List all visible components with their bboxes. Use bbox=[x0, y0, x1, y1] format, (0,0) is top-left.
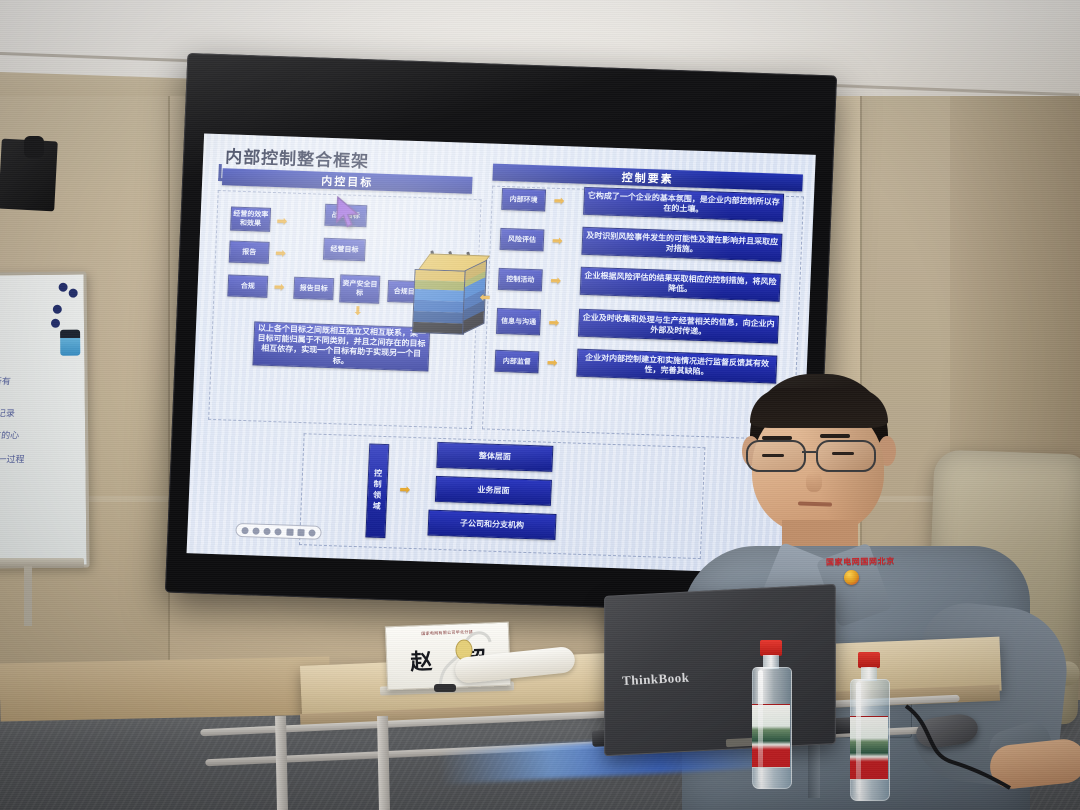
whiteboard-line: 力推 有的心 bbox=[0, 429, 20, 445]
bottle-highlight bbox=[856, 682, 861, 794]
whiteboard-line: 条件一过程 bbox=[0, 453, 25, 468]
party-badge-pin bbox=[844, 570, 859, 585]
meeting-room-photo: 科目 信 凭证 呼户所有 有属性 记录 力推 有的心 条件一过程 池 内部控制整… bbox=[0, 0, 1080, 810]
hair-fringe bbox=[750, 388, 888, 428]
eyebrow-right bbox=[820, 434, 850, 438]
whiteboard-tray bbox=[0, 558, 84, 568]
lens-right bbox=[816, 440, 876, 472]
bottle-cap bbox=[858, 652, 880, 668]
bottle-highlight bbox=[758, 670, 763, 782]
eye-left bbox=[762, 454, 784, 457]
whiteboard-eraser[interactable] bbox=[60, 330, 80, 356]
water-bottle bbox=[848, 652, 890, 800]
water-bottle bbox=[750, 640, 792, 788]
uniform-chest-logo: 国家电网国网北京 bbox=[826, 555, 922, 573]
whiteboard-line: 呼户所有 bbox=[0, 375, 11, 390]
laptop-brand-label: ThinkBook bbox=[622, 670, 690, 690]
desk-leg-left bbox=[275, 716, 288, 810]
desk-leg-mid bbox=[377, 716, 390, 810]
desk-front-panel bbox=[0, 657, 331, 722]
nose bbox=[806, 472, 822, 492]
whiteboard-line: 有属性 记录 bbox=[0, 407, 16, 423]
power-cable bbox=[900, 700, 1020, 790]
bottle-cap bbox=[760, 640, 782, 656]
whiteboard-leg bbox=[24, 566, 32, 626]
laptop-lid[interactable]: ThinkBook bbox=[604, 584, 836, 756]
whiteboard: 科目 信 凭证 呼户所有 有属性 记录 力推 有的心 条件一过程 池 bbox=[0, 271, 90, 568]
speaker-mount bbox=[24, 136, 44, 158]
eye-right bbox=[832, 452, 854, 455]
glasses-bridge bbox=[802, 451, 816, 453]
